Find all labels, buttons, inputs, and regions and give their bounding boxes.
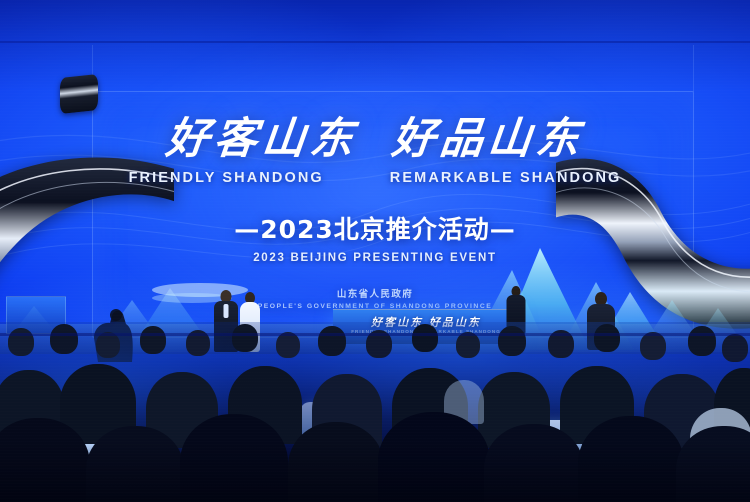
audience-head [498, 326, 526, 356]
event-photo-scene: 好客山东 好品山东 FRIENDLY SHANDONG REMARKABLE S… [0, 0, 750, 502]
audience-head [640, 332, 666, 360]
audience-front-figure [288, 422, 384, 502]
audience-front-figure [180, 414, 288, 502]
organizer-chinese: 山东省人民政府 [0, 286, 750, 300]
ribbon-cap-left [60, 74, 98, 114]
title-cn-right: 好品山东 [390, 118, 587, 161]
audience-head [232, 324, 258, 352]
audience-front-figure [578, 416, 684, 502]
audience-front-figure [86, 426, 184, 502]
audience-head [722, 334, 748, 362]
led-panel-seam-bottom [0, 333, 750, 336]
main-title-english: FRIENDLY SHANDONG REMARKABLE SHANDONG [0, 170, 750, 186]
audience-head [50, 324, 78, 354]
event-line-chinese: —2023北京推介活动— [0, 210, 750, 246]
audience-front-figure [378, 412, 490, 502]
main-title-chinese: 好客山东 好品山东 [0, 118, 750, 161]
backdrop-title-block: 好客山东 好品山东 FRIENDLY SHANDONG REMARKABLE S… [0, 118, 750, 310]
audience-head [594, 324, 620, 352]
person-shirt [224, 304, 229, 318]
audience-area [0, 322, 750, 502]
audience-head [688, 326, 716, 356]
audience-head [140, 326, 166, 354]
title-en-left: FRIENDLY SHANDONG [129, 170, 324, 186]
title-en-right: REMARKABLE SHANDONG [390, 170, 622, 186]
audience-head [412, 324, 438, 352]
audience-head [318, 326, 346, 356]
event-line-english: 2023 BEIJING PRESENTING EVENT [0, 252, 750, 264]
audience-front-figure [484, 424, 584, 502]
title-cn-left: 好客山东 [164, 118, 361, 161]
